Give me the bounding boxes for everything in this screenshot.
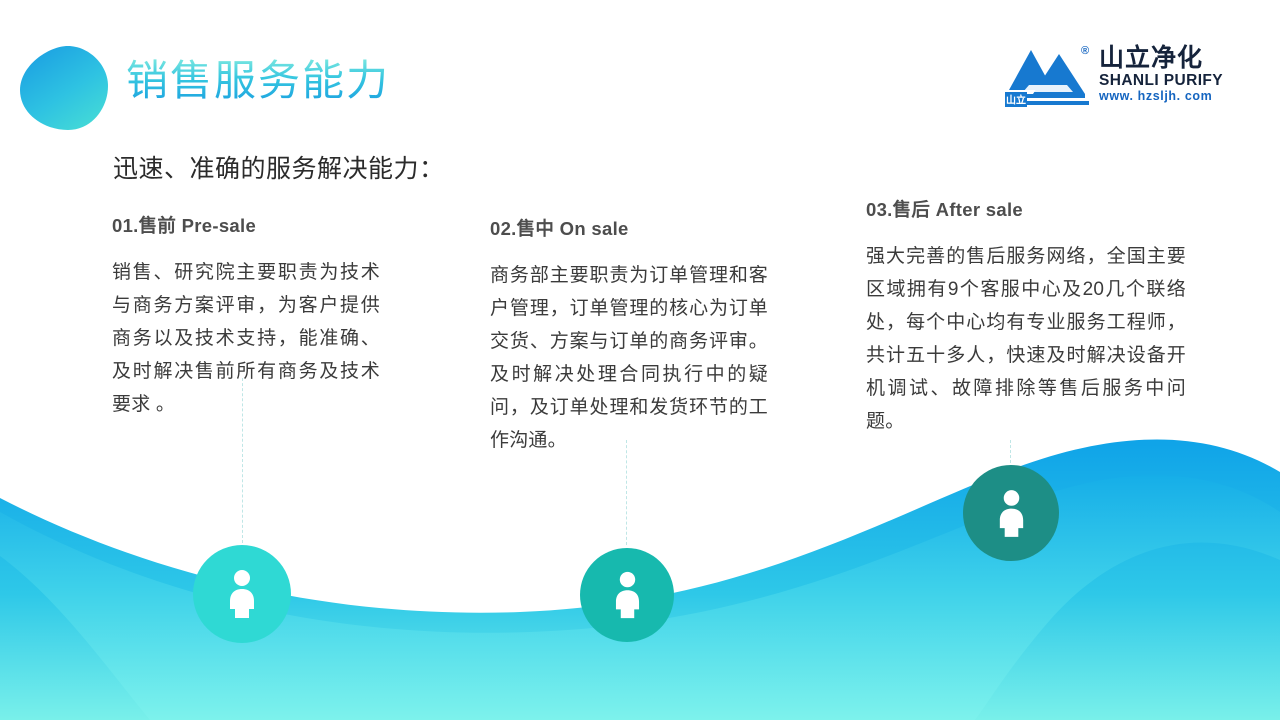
- mountain-logo-icon: 山立: [1003, 44, 1093, 110]
- milestone-marker-after-sale: [963, 465, 1059, 561]
- column-heading-1: 01.售前 Pre-sale: [112, 212, 380, 238]
- decorative-blob: [18, 44, 110, 132]
- company-logo: 山立 ® 山立净化 SHANLI PURIFY www. hzsljh. com: [1003, 44, 1228, 116]
- svg-text:山立: 山立: [1006, 94, 1026, 107]
- registered-trademark-icon: ®: [1081, 45, 1089, 57]
- person-icon: [224, 568, 260, 620]
- section-subtitle: 迅速、准确的服务解决能力：: [113, 149, 445, 185]
- content-column-on-sale: 02.售中 On sale 商务部主要职责为订单管理和客户管理，订单管理的核心为…: [490, 215, 768, 457]
- person-icon: [994, 488, 1029, 539]
- column-heading-2: 02.售中 On sale: [490, 215, 768, 241]
- logo-text-block: 山立净化 SHANLI PURIFY www. hzsljh. com: [1099, 44, 1231, 104]
- page-title: 销售服务能力: [126, 57, 390, 105]
- person-icon: [610, 570, 645, 620]
- milestone-marker-on-sale: [580, 548, 674, 642]
- milestone-marker-pre-sale: [193, 545, 291, 643]
- content-column-pre-sale: 01.售前 Pre-sale 销售、研究院主要职责为技术与商务方案评审，为客户提…: [112, 212, 380, 421]
- column-body-2: 商务部主要职责为订单管理和客户管理，订单管理的核心为订单交货、方案与订单的商务评…: [490, 259, 768, 457]
- column-body-1: 销售、研究院主要职责为技术与商务方案评审，为客户提供商务以及技术支持，能准确、及…: [112, 256, 380, 421]
- column-body-3: 强大完善的售后服务网络，全国主要区域拥有9个客服中心及20几个联络处，每个中心均…: [866, 240, 1186, 438]
- logo-website-url: www. hzsljh. com: [1099, 89, 1231, 104]
- content-column-after-sale: 03.售后 After sale 强大完善的售后服务网络，全国主要区域拥有9个客…: [866, 196, 1186, 438]
- connector-line-3: [1010, 440, 1011, 468]
- column-heading-3: 03.售后 After sale: [866, 196, 1186, 222]
- logo-name-cn: 山立净化: [1099, 44, 1231, 72]
- logo-name-en: SHANLI PURIFY: [1099, 72, 1231, 89]
